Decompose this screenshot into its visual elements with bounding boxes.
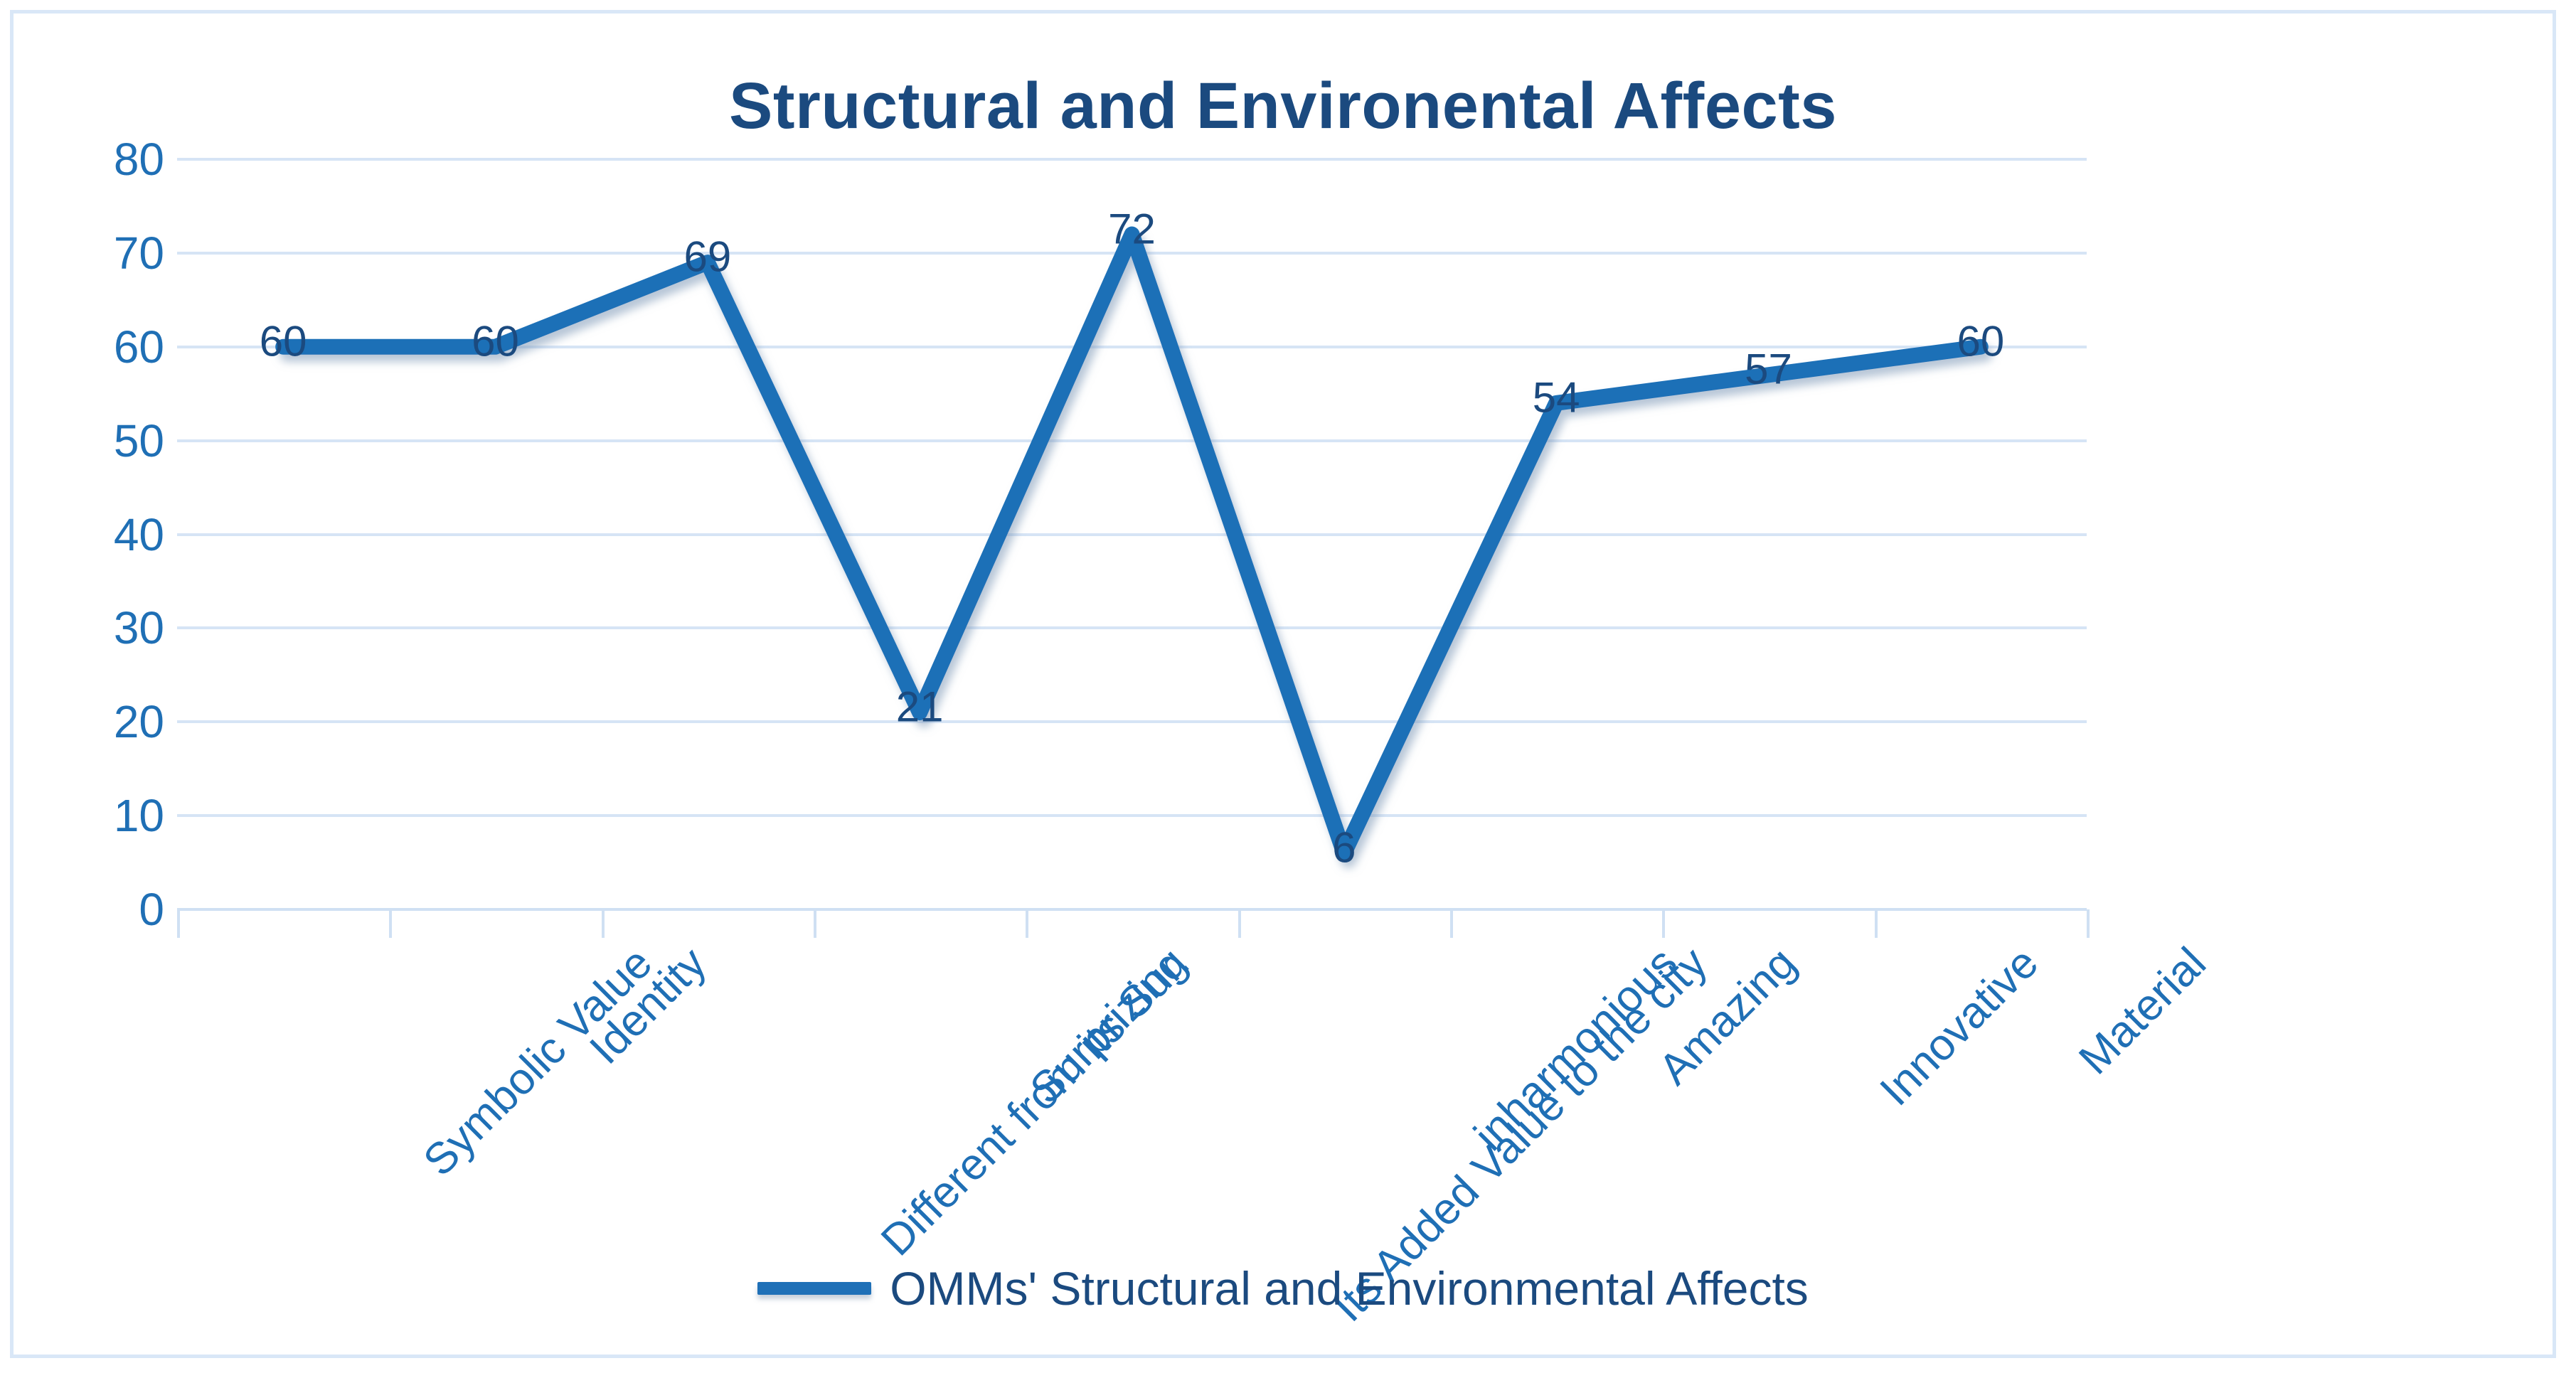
- y-axis-tick-label: 20: [22, 695, 164, 748]
- y-axis-tick-label: 70: [22, 227, 164, 279]
- x-axis-tick-mark: [1450, 909, 1453, 938]
- x-axis-tick-mark: [1238, 909, 1241, 938]
- x-axis-category-label-text: Surprizing: [1021, 938, 1197, 1114]
- x-axis-category-label: Material: [2069, 938, 2215, 1084]
- x-axis-category-label-text: inharmonious: [1464, 938, 1687, 1160]
- y-axis-tick-label: 60: [22, 321, 164, 373]
- x-axis-tick-mark: [1662, 909, 1665, 938]
- x-axis-tick-mark: [1026, 909, 1028, 938]
- legend-color-swatch: [757, 1282, 871, 1295]
- x-axis-tick-mark: [2087, 909, 2090, 938]
- series-line-chart: [177, 159, 2087, 909]
- y-axis-tick-label: 30: [22, 602, 164, 654]
- plot-area: 60606921726545760: [177, 159, 2087, 909]
- x-axis-category-label: Innovative: [1870, 938, 2048, 1116]
- y-axis-tick-label: 0: [22, 883, 164, 936]
- x-axis-tick-mark: [814, 909, 816, 938]
- x-axis-tick-mark: [602, 909, 605, 938]
- x-axis-category-label: inharmonious: [1464, 938, 1687, 1160]
- x-axis-category-label-text: Innovative: [1870, 938, 2048, 1116]
- chart-frame: Structural and Environental Affects 0102…: [10, 10, 2556, 1358]
- chart-legend: OMMs' Structural and Environmental Affec…: [14, 1261, 2553, 1315]
- chart-title: Structural and Environental Affects: [14, 69, 2553, 144]
- series-polyline: [283, 235, 1981, 853]
- y-axis-tick-label: 80: [22, 133, 164, 186]
- y-axis-tick-label: 50: [22, 415, 164, 467]
- x-axis-tick-mark: [1875, 909, 1878, 938]
- y-axis-tick-label: 40: [22, 508, 164, 561]
- y-axis-tick-label: 10: [22, 789, 164, 842]
- x-axis-tick-mark: [177, 909, 180, 938]
- y-axis-tick-labels: 01020304050607080: [14, 159, 166, 909]
- x-axis-category-label: Surprizing: [1021, 938, 1197, 1114]
- x-axis-category-label-text: Material: [2069, 938, 2215, 1084]
- legend-entry-label: OMMs' Structural and Environmental Affec…: [890, 1261, 1809, 1315]
- x-axis-tick-mark: [389, 909, 392, 938]
